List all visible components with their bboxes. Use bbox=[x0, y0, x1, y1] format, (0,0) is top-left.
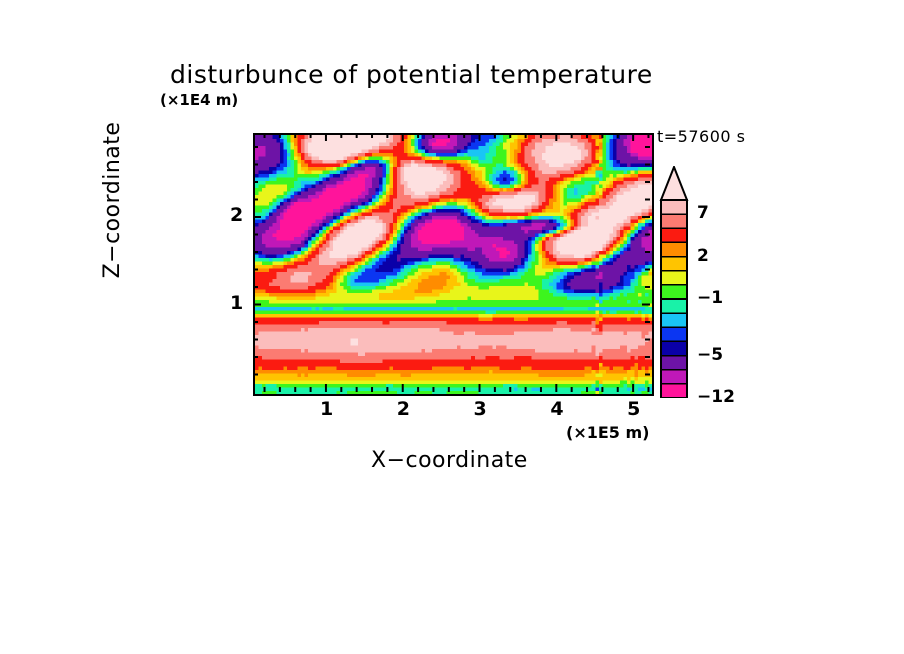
time-annotation: t=57600 s bbox=[657, 127, 746, 146]
contour-plot-area bbox=[253, 133, 654, 396]
x-tick-label: 5 bbox=[627, 398, 640, 420]
figure-canvas: disturbunce of potential temperature (×1… bbox=[0, 0, 904, 654]
colorbar-tick-label: −1 bbox=[697, 288, 723, 308]
colorbar-tick-label: −12 bbox=[697, 387, 735, 407]
x-axis-title: X−coordinate bbox=[371, 448, 528, 473]
y-axis-title: Z−coordinate bbox=[100, 90, 125, 310]
x-tick-label: 4 bbox=[550, 398, 563, 420]
x-tick-label: 2 bbox=[397, 398, 410, 420]
x-axis-units-label: (×1E5 m) bbox=[566, 423, 649, 442]
y-tick-label: 1 bbox=[230, 292, 243, 314]
y-tick-label: 2 bbox=[230, 204, 243, 226]
x-tick-label: 3 bbox=[474, 398, 487, 420]
colorbar-tick-label: 2 bbox=[697, 246, 709, 266]
colorbar-gradient bbox=[659, 166, 689, 398]
colorbar bbox=[659, 166, 689, 398]
y-axis-units-label: (×1E4 m) bbox=[160, 91, 238, 109]
contour-field bbox=[255, 135, 652, 394]
colorbar-tick-label: −5 bbox=[697, 345, 723, 365]
colorbar-tick-label: 7 bbox=[697, 203, 709, 223]
x-tick-label: 1 bbox=[320, 398, 333, 420]
page-title: disturbunce of potential temperature bbox=[170, 60, 653, 89]
